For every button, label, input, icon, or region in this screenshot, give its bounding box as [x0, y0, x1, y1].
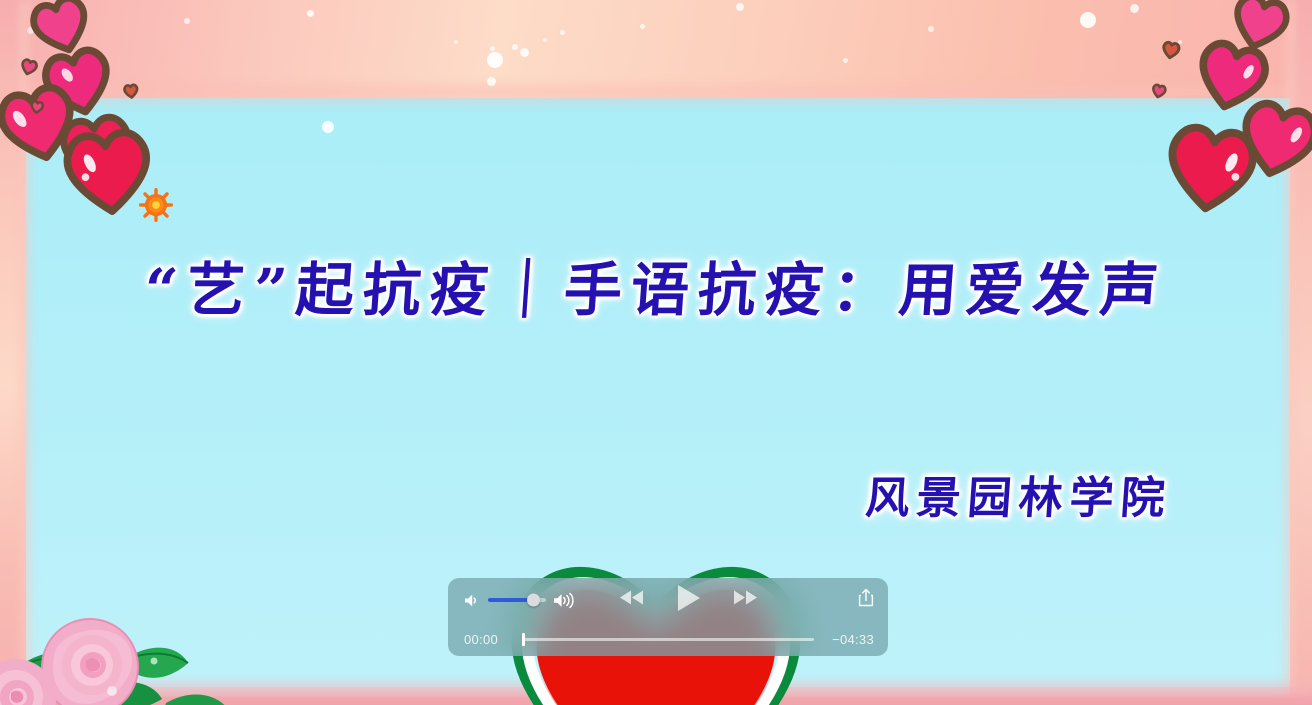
share-icon[interactable] — [858, 588, 874, 612]
video-stage: “艺”起抗疫｜手语抗疫：用爱发声 风景园林学院 — [0, 0, 1312, 705]
remaining-time-label: −04:33 — [826, 632, 874, 647]
bokeh-dot — [640, 24, 645, 29]
bokeh-dot — [184, 18, 190, 24]
fast-forward-icon[interactable] — [732, 589, 759, 611]
current-time-label: 00:00 — [464, 632, 508, 647]
bokeh-dot — [322, 121, 334, 133]
progress-slider-playhead[interactable] — [522, 633, 525, 646]
rewind-icon[interactable] — [618, 589, 645, 611]
pink-roses-decoration — [0, 605, 234, 705]
speaker-low-icon[interactable] — [464, 593, 481, 608]
orange-daisy-icon — [139, 188, 173, 227]
player-transport-row — [448, 578, 888, 622]
transport-buttons[interactable] — [618, 583, 759, 618]
bokeh-dot — [487, 52, 503, 68]
bokeh-dot — [928, 26, 934, 32]
background-top-band — [0, 0, 1312, 98]
progress-slider-track — [522, 638, 814, 641]
cartoon-heart-decoration — [1150, 83, 1167, 100]
speaker-high-icon[interactable] — [553, 592, 578, 609]
cartoon-heart-decoration — [1160, 40, 1181, 60]
bokeh-dot — [454, 40, 458, 44]
bokeh-dot — [736, 3, 744, 11]
volume-slider-knob[interactable] — [527, 594, 540, 607]
cartoon-heart-decoration — [1156, 116, 1266, 220]
volume-control[interactable] — [464, 592, 578, 609]
cartoon-heart-decoration — [123, 83, 140, 99]
bokeh-dot — [307, 10, 314, 17]
cartoon-heart-decoration — [29, 100, 45, 115]
bokeh-dot — [843, 58, 848, 63]
progress-slider[interactable] — [522, 632, 814, 646]
page-subtitle: 风景园林学院 — [864, 462, 1174, 526]
bokeh-dot — [1080, 12, 1096, 28]
bokeh-dot — [543, 38, 547, 42]
volume-slider[interactable] — [488, 598, 546, 602]
bokeh-dot — [487, 77, 496, 86]
bokeh-dot — [512, 44, 518, 50]
play-icon[interactable] — [675, 583, 702, 618]
player-progress-row: 00:00 −04:33 — [448, 622, 888, 656]
bokeh-dot — [520, 48, 529, 57]
bokeh-dot — [490, 46, 495, 51]
bokeh-dot — [560, 30, 565, 35]
bokeh-dot — [1130, 4, 1139, 13]
page-title: “艺”起抗疫｜手语抗疫：用爱发声 — [0, 243, 1312, 327]
video-player-controls[interactable]: 00:00 −04:33 — [448, 578, 888, 656]
